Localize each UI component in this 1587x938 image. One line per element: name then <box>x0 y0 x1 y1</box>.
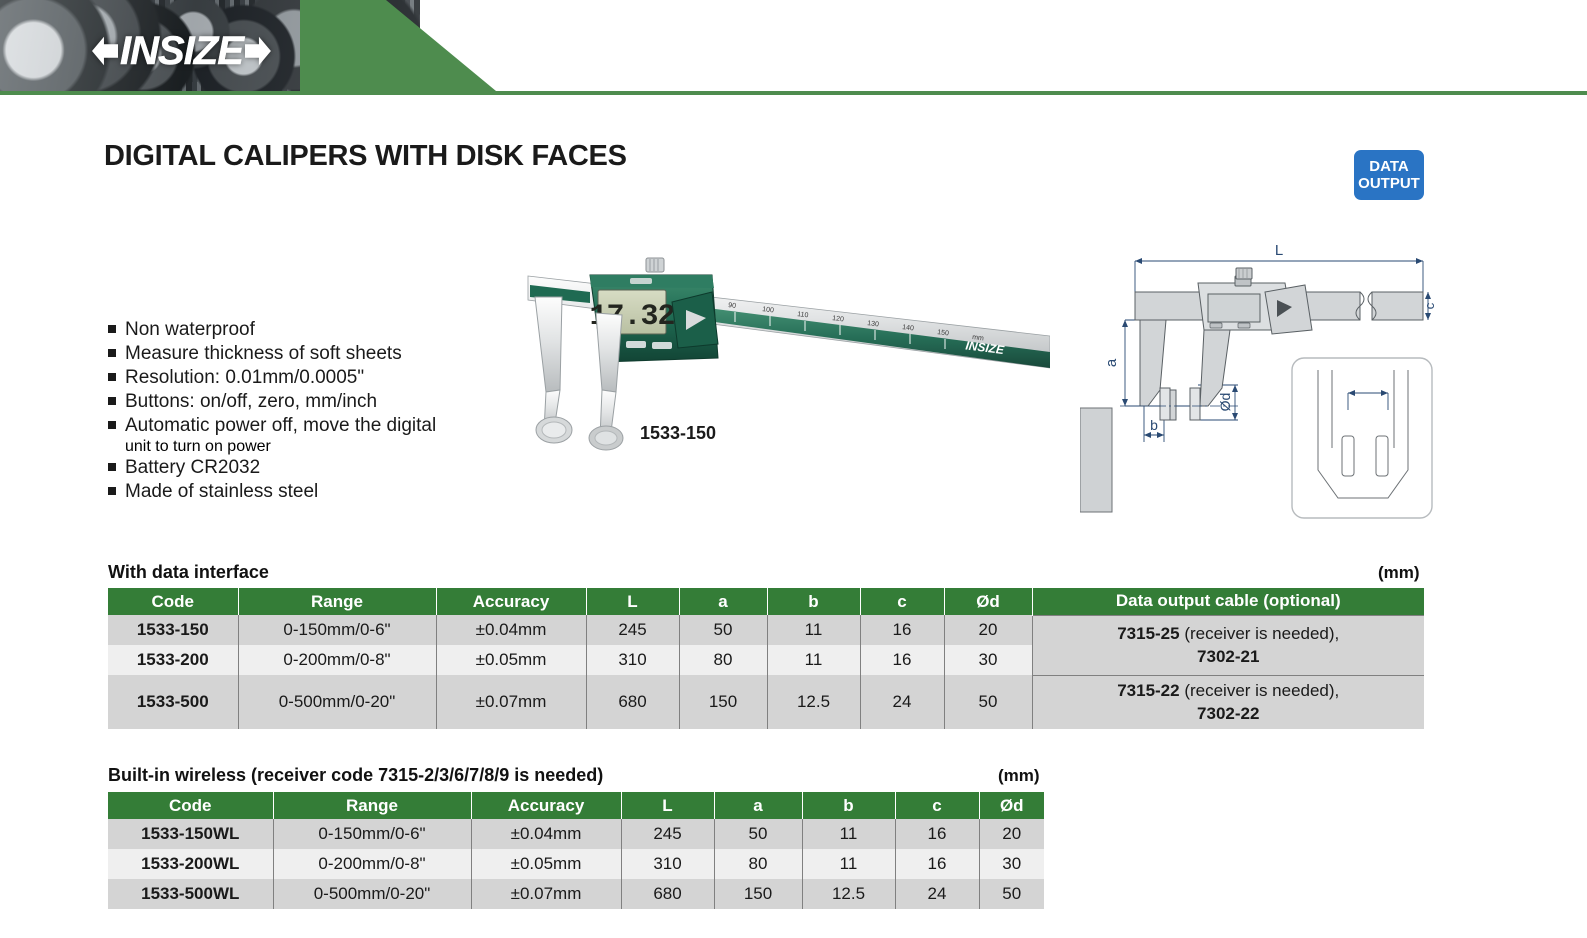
table1-unit: (mm) <box>1378 563 1420 583</box>
table2-unit: (mm) <box>998 766 1040 786</box>
th-d: Ød <box>979 792 1044 819</box>
cell-accuracy: ±0.07mm <box>436 675 586 729</box>
cell-d: 50 <box>944 675 1032 729</box>
list-item: Automatic power off, move the digital <box>108 414 488 437</box>
cell-range: 0-500mm/0-20" <box>273 879 471 909</box>
cell-code: 1533-150 <box>108 615 238 645</box>
cell-a: 80 <box>714 849 802 879</box>
th-c: c <box>860 588 944 615</box>
square-bullet-icon <box>108 349 116 357</box>
th-accuracy: Accuracy <box>471 792 621 819</box>
th-c: c <box>895 792 979 819</box>
cable-code: 7315-25 <box>1117 624 1179 643</box>
cell-c: 16 <box>860 645 944 675</box>
cell-accuracy: ±0.07mm <box>471 879 621 909</box>
th-b: b <box>767 588 860 615</box>
table-row: 1533-200WL 0-200mm/0-8" ±0.05mm 310 80 1… <box>108 849 1044 879</box>
cell-c: 24 <box>895 879 979 909</box>
product-caption: 1533-150 <box>640 423 716 444</box>
data-output-badge[interactable]: DATA OUTPUT <box>1354 150 1424 200</box>
cell-code: 1533-500WL <box>108 879 273 909</box>
insize-logo[interactable]: INSIZE <box>92 34 271 68</box>
cell-l: 680 <box>621 879 714 909</box>
dim-label-b: b <box>1150 417 1158 433</box>
feature-text: Made of stainless steel <box>125 480 488 503</box>
cell-l: 245 <box>586 615 679 645</box>
cell-d: 50 <box>979 879 1044 909</box>
th-accuracy: Accuracy <box>436 588 586 615</box>
feature-text: Measure thickness of soft sheets <box>125 342 488 365</box>
cable-code: 7315-22 <box>1117 681 1179 700</box>
cell-b: 11 <box>802 849 895 879</box>
svg-text:140: 140 <box>902 324 915 332</box>
table-row: 1533-150 0-150mm/0-6" ±0.04mm 245 50 11 … <box>108 615 1424 645</box>
square-bullet-icon <box>108 463 116 471</box>
cable-second-code: 7302-21 <box>1197 647 1259 666</box>
svg-text:90: 90 <box>728 302 737 310</box>
badge-line-2: OUTPUT <box>1358 175 1420 192</box>
table-row: 1533-500WL 0-500mm/0-20" ±0.07mm 680 150… <box>108 879 1044 909</box>
dim-label-a: a <box>1103 358 1120 367</box>
th-cable: Data output cable (optional) <box>1032 588 1424 615</box>
cell-a: 80 <box>679 645 767 675</box>
square-bullet-icon <box>108 325 116 333</box>
cell-cable: 7315-25 (receiver is needed), 7302-21 <box>1032 615 1424 675</box>
table2-label: Built-in wireless (receiver code 7315-2/… <box>108 765 603 786</box>
svg-text:130: 130 <box>867 320 880 328</box>
feature-text-continuation: unit to turn on power <box>108 438 488 456</box>
cell-d: 20 <box>979 819 1044 849</box>
table1-header-row: Code Range Accuracy L a b c Ød Data outp… <box>108 588 1424 615</box>
cable-note: (receiver is needed), <box>1180 681 1340 700</box>
square-bullet-icon <box>108 421 116 429</box>
cell-d: 30 <box>944 645 1032 675</box>
th-code: Code <box>108 588 238 615</box>
list-item: Measure thickness of soft sheets <box>108 342 488 365</box>
list-item: Resolution: 0.01mm/0.0005" <box>108 366 488 389</box>
cell-b: 11 <box>767 615 860 645</box>
cell-code: 1533-500 <box>108 675 238 729</box>
svg-text:100: 100 <box>762 306 775 314</box>
cell-accuracy: ±0.04mm <box>471 819 621 849</box>
badge-line-1: DATA <box>1369 158 1408 175</box>
svg-text:150: 150 <box>937 329 950 337</box>
svg-text:110: 110 <box>797 311 809 319</box>
cell-c: 24 <box>860 675 944 729</box>
cable-note: (receiver is needed), <box>1180 624 1340 643</box>
feature-text: Buttons: on/off, zero, mm/inch <box>125 390 488 413</box>
cell-a: 50 <box>679 615 767 645</box>
dimension-diagram: L c a b Ød <box>1080 230 1440 540</box>
cell-c: 16 <box>895 819 979 849</box>
cell-c: 16 <box>860 615 944 645</box>
th-range: Range <box>238 588 436 615</box>
th-l: L <box>586 588 679 615</box>
cell-d: 30 <box>979 849 1044 879</box>
cell-code: 1533-200 <box>108 645 238 675</box>
th-a: a <box>714 792 802 819</box>
square-bullet-icon <box>108 397 116 405</box>
with-data-interface-table: Code Range Accuracy L a b c Ød Data outp… <box>108 588 1424 729</box>
cell-b: 12.5 <box>802 879 895 909</box>
dim-label-L: L <box>1275 242 1283 259</box>
feature-text: Non waterproof <box>125 318 488 341</box>
list-item: Made of stainless steel <box>108 480 488 503</box>
technical-drawing: L c a b Ød <box>1080 230 1440 540</box>
table-row: 1533-150WL 0-150mm/0-6" ±0.04mm 245 50 1… <box>108 819 1044 849</box>
cell-range: 0-200mm/0-8" <box>238 645 436 675</box>
list-item: Battery CR2032 <box>108 456 488 479</box>
th-l: L <box>621 792 714 819</box>
th-a: a <box>679 588 767 615</box>
cell-code: 1533-150WL <box>108 819 273 849</box>
cell-a: 150 <box>714 879 802 909</box>
feature-text: Resolution: 0.01mm/0.0005" <box>125 366 488 389</box>
table2-header-row: Code Range Accuracy L a b c Ød <box>108 792 1044 819</box>
th-d: Ød <box>944 588 1032 615</box>
dim-label-c: c <box>1422 302 1437 309</box>
caliper-illustration: 90 100 110 120 130 140 150 mm INSIZE <box>450 240 1050 460</box>
cell-d: 20 <box>944 615 1032 645</box>
svg-text:120: 120 <box>832 315 845 323</box>
square-bullet-icon <box>108 373 116 381</box>
cell-accuracy: ±0.05mm <box>471 849 621 879</box>
dim-label-d: Ød <box>1217 393 1233 412</box>
logo-text: INSIZE <box>120 34 243 68</box>
table1-label: With data interface <box>108 562 269 583</box>
banner-green-chevron <box>300 0 500 91</box>
table-row: 1533-500 0-500mm/0-20" ±0.07mm 680 150 1… <box>108 675 1424 729</box>
cell-accuracy: ±0.04mm <box>436 615 586 645</box>
cell-l: 245 <box>621 819 714 849</box>
built-in-wireless-table: Code Range Accuracy L a b c Ød 1533-150W… <box>108 792 1044 909</box>
feature-list: Non waterproof Measure thickness of soft… <box>108 318 488 504</box>
th-range: Range <box>273 792 471 819</box>
cell-range: 0-500mm/0-20" <box>238 675 436 729</box>
cell-cable: 7315-22 (receiver is needed), 7302-22 <box>1032 675 1424 729</box>
cell-code: 1533-200WL <box>108 849 273 879</box>
arrow-right-icon <box>245 34 271 68</box>
cell-range: 0-200mm/0-8" <box>273 849 471 879</box>
cell-b: 11 <box>767 645 860 675</box>
cell-a: 50 <box>714 819 802 849</box>
product-photo: 90 100 110 120 130 140 150 mm INSIZE <box>450 240 1050 460</box>
th-code: Code <box>108 792 273 819</box>
cable-second-code: 7302-22 <box>1197 704 1259 723</box>
cell-l: 310 <box>586 645 679 675</box>
cell-l: 310 <box>621 849 714 879</box>
page-title: DIGITAL CALIPERS WITH DISK FACES <box>104 140 627 173</box>
cell-accuracy: ±0.05mm <box>436 645 586 675</box>
arrow-left-icon <box>92 34 118 68</box>
square-bullet-icon <box>108 487 116 495</box>
feature-text: Automatic power off, move the digital <box>125 414 488 437</box>
list-item: Buttons: on/off, zero, mm/inch <box>108 390 488 413</box>
cell-c: 16 <box>895 849 979 879</box>
feature-text: Battery CR2032 <box>125 456 488 479</box>
list-item: Non waterproof <box>108 318 488 341</box>
banner-bottom-rule <box>0 91 1587 95</box>
cell-range: 0-150mm/0-6" <box>238 615 436 645</box>
cell-b: 12.5 <box>767 675 860 729</box>
cell-b: 11 <box>802 819 895 849</box>
top-banner: INSIZE <box>0 0 1587 94</box>
cell-l: 680 <box>586 675 679 729</box>
product-datasheet-page: INSIZE DIGITAL CALIPERS WITH DISK FACES … <box>0 0 1587 938</box>
cell-a: 150 <box>679 675 767 729</box>
th-b: b <box>802 792 895 819</box>
cell-range: 0-150mm/0-6" <box>273 819 471 849</box>
